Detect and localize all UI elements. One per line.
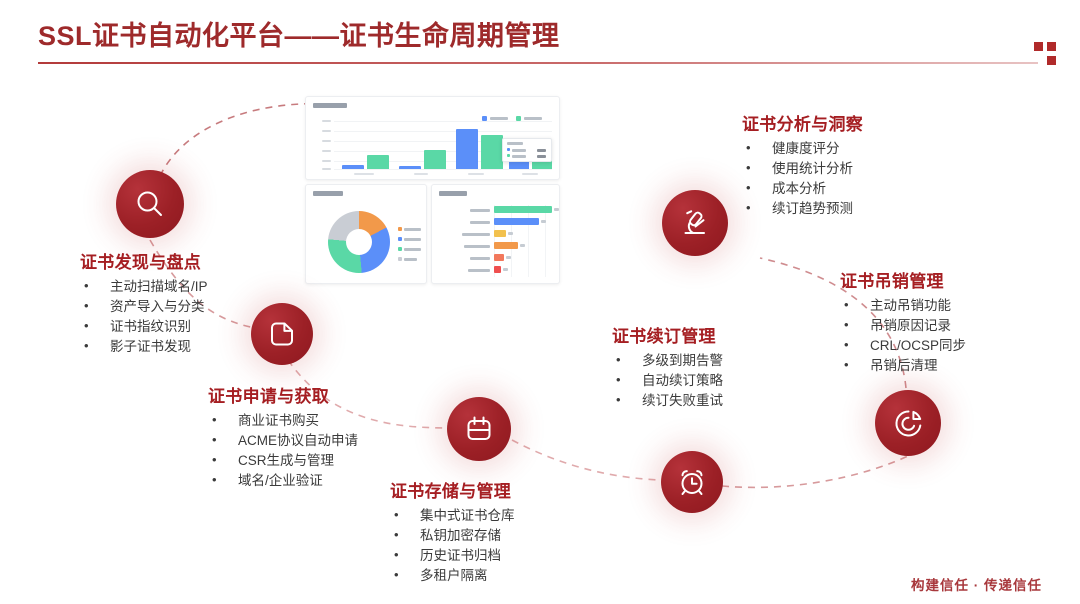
tooltip-title xyxy=(507,142,523,145)
stage-bullets: 主动吊销功能 吊销原因记录 CRL/OCSP同步 吊销后清理 xyxy=(840,296,966,376)
stage-title: 证书存储与管理 xyxy=(390,477,515,502)
deco-square-3 xyxy=(1047,56,1056,65)
bar-series1 xyxy=(399,166,421,169)
stage-bullets: 集中式证书仓库 私钥加密存储 历史证书归档 多租户隔离 xyxy=(390,506,515,586)
hbar-label xyxy=(470,221,490,224)
x-tick xyxy=(354,173,374,175)
bar-series1 xyxy=(456,129,478,169)
panel-donut-chart xyxy=(305,184,427,284)
y-tick xyxy=(322,140,331,142)
dashboard-mockup xyxy=(305,96,560,282)
stage-text-revocation: 证书吊销管理 主动吊销功能 吊销原因记录 CRL/OCSP同步 吊销后清理 xyxy=(840,267,966,376)
y-tick xyxy=(322,168,331,170)
bullet-item: 续订失败重试 xyxy=(612,391,723,411)
donut-legend-label-1 xyxy=(404,228,421,231)
hbar-value xyxy=(506,256,511,259)
bullet-item: 多租户隔离 xyxy=(390,566,515,586)
v-grid xyxy=(511,205,512,277)
bullet-item: 私钥加密存储 xyxy=(390,526,515,546)
bullet-item: 多级到期告警 xyxy=(612,351,723,371)
stage-text-storage: 证书存储与管理 集中式证书仓库 私钥加密存储 历史证书归档 多租户隔离 xyxy=(390,477,515,586)
tooltip-row-2 xyxy=(512,155,526,158)
y-tick xyxy=(322,150,331,152)
bar-series2 xyxy=(424,150,446,169)
hbar-value xyxy=(554,208,559,211)
slide-footer: 构建信任 · 传递信任 xyxy=(911,574,1042,594)
stage-bullets: 多级到期告警 自动续订策略 续订失败重试 xyxy=(612,351,723,411)
magnifier-icon xyxy=(133,187,167,221)
bullet-item: 使用统计分析 xyxy=(742,159,863,179)
bullet-item: 域名/企业验证 xyxy=(208,471,358,491)
hbar-value xyxy=(503,268,508,271)
hbar-label xyxy=(470,257,490,260)
hbar-bar xyxy=(494,266,501,273)
y-tick xyxy=(322,160,331,162)
bullet-item: 历史证书归档 xyxy=(390,546,515,566)
stage-text-analytics: 证书分析与洞察 健康度评分 使用统计分析 成本分析 续订趋势预测 xyxy=(742,110,863,219)
legend-label-series2 xyxy=(524,117,542,120)
panel-title-placeholder xyxy=(313,191,343,196)
stage-title: 证书申请与获取 xyxy=(208,382,358,407)
stage-text-issuance: 证书申请与获取 商业证书购买 ACME协议自动申请 CSR生成与管理 域名/企业… xyxy=(208,382,358,491)
document-icon xyxy=(266,318,298,350)
bullet-item: 吊销后清理 xyxy=(840,356,966,376)
bar-series2 xyxy=(367,155,389,169)
panel-bar-chart xyxy=(305,96,560,180)
stage-node-renewal[interactable] xyxy=(661,451,723,513)
hbar-bar xyxy=(494,254,504,261)
v-grid xyxy=(545,205,546,277)
stage-node-issuance[interactable] xyxy=(251,303,313,365)
hbar-label xyxy=(468,269,490,272)
stage-node-analytics[interactable] xyxy=(662,190,728,256)
stage-bullets: 商业证书购买 ACME协议自动申请 CSR生成与管理 域名/企业验证 xyxy=(208,411,358,491)
stage-title: 证书分析与洞察 xyxy=(742,110,863,135)
stage-text-renewal: 证书续订管理 多级到期告警 自动续订策略 续订失败重试 xyxy=(612,322,723,411)
bullet-item: 主动吊销功能 xyxy=(840,296,966,316)
bullet-item: 证书指纹识别 xyxy=(80,317,208,337)
tooltip-row-1 xyxy=(512,149,526,152)
hbar-label xyxy=(462,233,490,236)
stage-text-discovery: 证书发现与盘点 主动扫描域名/IP 资产导入与分类 证书指纹识别 影子证书发现 xyxy=(80,248,208,357)
panel-title-placeholder xyxy=(313,103,347,108)
hbar-value xyxy=(508,232,513,235)
donut-legend-dot-4 xyxy=(398,257,402,261)
tooltip-dot-2 xyxy=(507,154,510,157)
y-tick xyxy=(322,120,331,122)
stage-title: 证书续订管理 xyxy=(612,322,723,347)
donut-legend-label-2 xyxy=(404,238,421,241)
hbar-value xyxy=(520,244,525,247)
bullet-item: CSR生成与管理 xyxy=(208,451,358,471)
bullet-item: 主动扫描域名/IP xyxy=(80,277,208,297)
grid-line xyxy=(334,131,552,132)
corner-decoration xyxy=(1034,42,1064,72)
donut-legend-dot-3 xyxy=(398,247,402,251)
hbar-bar xyxy=(494,230,506,237)
hbar-bar xyxy=(494,218,539,225)
microscope-icon xyxy=(678,206,712,240)
slide-canvas: SSL证书自动化平台——证书生命周期管理 xyxy=(0,0,1080,604)
bullet-item: 续订趋势预测 xyxy=(742,199,863,219)
donut-legend-dot-1 xyxy=(398,227,402,231)
bullet-item: 吊销原因记录 xyxy=(840,316,966,336)
x-tick xyxy=(414,173,428,175)
legend-label-series1 xyxy=(490,117,508,120)
stage-bullets: 主动扫描域名/IP 资产导入与分类 证书指纹识别 影子证书发现 xyxy=(80,277,208,357)
donut-legend-dot-2 xyxy=(398,237,402,241)
bar-series1 xyxy=(342,165,364,169)
hbar-bar xyxy=(494,206,552,213)
x-tick xyxy=(468,173,484,175)
v-grid xyxy=(528,205,529,277)
deco-square-2 xyxy=(1047,42,1056,51)
bullet-item: 影子证书发现 xyxy=(80,337,208,357)
bullet-item: 资产导入与分类 xyxy=(80,297,208,317)
bullet-item: 健康度评分 xyxy=(742,139,863,159)
stage-node-storage[interactable] xyxy=(447,397,511,461)
title-divider xyxy=(38,62,1038,64)
stage-node-discovery[interactable] xyxy=(116,170,184,238)
page-title: SSL证书自动化平台——证书生命周期管理 xyxy=(38,14,560,53)
tooltip-val-2 xyxy=(537,155,546,158)
y-tick xyxy=(322,130,331,132)
stage-title: 证书发现与盘点 xyxy=(80,248,208,273)
stage-title: 证书吊销管理 xyxy=(840,267,966,292)
bullet-item: 商业证书购买 xyxy=(208,411,358,431)
tooltip-dot-1 xyxy=(507,148,510,151)
hbar-label xyxy=(464,245,490,248)
donut-legend-label-3 xyxy=(404,248,421,251)
bullet-item: 集中式证书仓库 xyxy=(390,506,515,526)
donut-legend-label-4 xyxy=(404,258,417,261)
panel-hbar-chart xyxy=(431,184,560,284)
pie-chart-icon xyxy=(891,406,925,440)
bullet-item: 自动续订策略 xyxy=(612,371,723,391)
panel-title-placeholder xyxy=(439,191,467,196)
grid-line xyxy=(334,121,552,122)
x-tick xyxy=(522,173,538,175)
stage-bullets: 健康度评分 使用统计分析 成本分析 续订趋势预测 xyxy=(742,139,863,219)
bullet-item: ACME协议自动申请 xyxy=(208,431,358,451)
chart-tooltip xyxy=(502,138,552,162)
donut-chart xyxy=(328,211,390,273)
hbar-label xyxy=(470,209,490,212)
hbar-bar xyxy=(494,242,518,249)
bullet-item: CRL/OCSP同步 xyxy=(840,336,966,356)
tooltip-val-1 xyxy=(537,149,546,152)
stage-node-revocation[interactable] xyxy=(875,390,941,456)
alarm-clock-icon xyxy=(676,466,708,498)
hbar-value xyxy=(541,220,546,223)
calendar-vault-icon xyxy=(463,413,495,445)
grid-line xyxy=(334,169,552,170)
deco-square-1 xyxy=(1034,42,1043,51)
bullet-item: 成本分析 xyxy=(742,179,863,199)
bar-series2 xyxy=(481,135,503,169)
